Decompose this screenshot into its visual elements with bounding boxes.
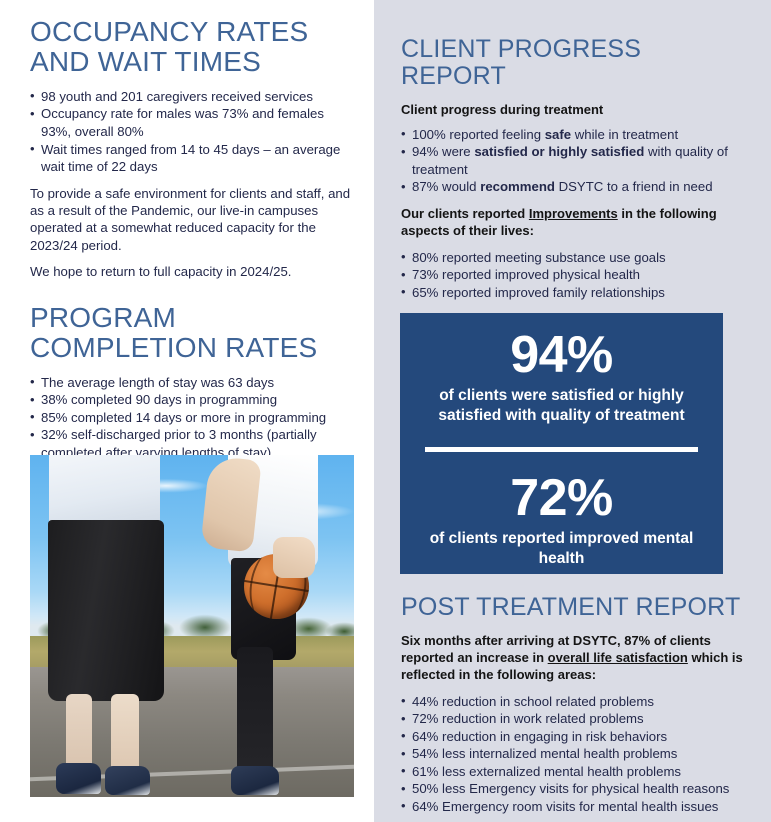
spacer — [401, 118, 751, 126]
statistic-number: 94% — [418, 329, 705, 381]
client-progress-report-title: CLIENT PROGRESS REPORT — [401, 0, 751, 90]
occupancy-paragraph-2: We hope to return to full capacity in 20… — [30, 263, 352, 280]
right-column: CLIENT PROGRESS REPORT Client progress d… — [374, 0, 771, 822]
photo-right-player-hand — [273, 537, 315, 578]
spacer — [401, 90, 751, 101]
bullet-text-pre: 94% were — [412, 144, 474, 159]
spacer — [401, 621, 751, 632]
list-item: Wait times ranged from 14 to 45 days – a… — [30, 141, 352, 176]
bullet-text-bold: recommend — [480, 179, 555, 194]
statistic-number: 72% — [418, 472, 705, 524]
left-column: OCCUPANCY RATES AND WAIT TIMES 98 youth … — [0, 0, 374, 822]
photo-left-player-shirt — [49, 455, 159, 530]
spacer — [401, 240, 751, 249]
spacer — [401, 196, 751, 205]
report-page: OCCUPANCY RATES AND WAIT TIMES 98 youth … — [0, 0, 771, 822]
client-progress-section: CLIENT PROGRESS REPORT Client progress d… — [374, 0, 771, 301]
list-item: 94% were satisfied or highly satisfied w… — [401, 143, 751, 178]
list-item: 61% less externalized mental health prob… — [401, 763, 751, 781]
occupancy-bullet-list: 98 youth and 201 caregivers received ser… — [30, 88, 352, 176]
photo-right-player-leg — [237, 647, 273, 777]
list-item: 50% less Emergency visits for physical h… — [401, 780, 751, 798]
bullet-text-bold: safe — [545, 127, 571, 142]
list-item: 98 youth and 201 caregivers received ser… — [30, 88, 352, 106]
list-item: 64% reduction in engaging in risk behavi… — [401, 728, 751, 746]
list-item: The average length of stay was 63 days — [30, 374, 352, 392]
occupancy-rates-title: OCCUPANCY RATES AND WAIT TIMES — [30, 0, 352, 77]
list-item: 54% less internalized mental health prob… — [401, 745, 751, 763]
occupancy-paragraph-1: To provide a safe environment for client… — [30, 185, 352, 255]
photo-right-player-shoe — [231, 766, 280, 795]
post-treatment-underlined-phrase: overall life satisfaction — [548, 650, 688, 665]
improvements-lead-text: Our clients reported Improvements in the… — [401, 205, 751, 240]
list-item: 64% Emergency room visits for mental hea… — [401, 798, 751, 816]
list-item: 85% completed 14 days or more in program… — [30, 409, 352, 427]
bullet-text-pre: 87% would — [412, 179, 480, 194]
bullet-text-post: while in treatment — [571, 127, 678, 142]
statistic-block-2: 72% of clients reported improved mental … — [418, 472, 705, 568]
statistic-caption: of clients were satisfied or highly sati… — [418, 386, 705, 425]
photo-left-player-shoe-right — [105, 766, 150, 795]
bullet-text-pre: 100% reported feeling — [412, 127, 545, 142]
statistics-divider — [425, 447, 698, 452]
list-item: 72% reduction in work related problems — [401, 710, 751, 728]
list-item: 65% reported improved family relationshi… — [401, 284, 751, 302]
list-item: 44% reduction in school related problems — [401, 693, 751, 711]
photo-left-player-shorts — [48, 520, 165, 701]
occupancy-section: OCCUPANCY RATES AND WAIT TIMES 98 youth … — [0, 0, 374, 281]
statistic-block-1: 94% of clients were satisfied or highly … — [418, 329, 705, 425]
list-item: Occupancy rate for males was 73% and fem… — [30, 105, 352, 140]
post-treatment-lead-text: Six months after arriving at DSYTC, 87% … — [401, 632, 751, 684]
list-item: 80% reported meeting substance use goals — [401, 249, 751, 267]
key-statistics-box: 94% of clients were satisfied or highly … — [400, 313, 723, 574]
bullet-text-bold: satisfied or highly satisfied — [474, 144, 644, 159]
spacer — [30, 254, 352, 263]
list-item: 100% reported feeling safe while in trea… — [401, 126, 751, 144]
program-completion-rates-title: PROGRAM COMPLETION RATES — [30, 303, 352, 363]
improvements-lead-pre: Our clients reported — [401, 206, 529, 221]
statistic-caption: of clients reported improved mental heal… — [418, 529, 705, 568]
post-treatment-bullet-list: 44% reduction in school related problems… — [401, 693, 751, 816]
spacer — [30, 77, 352, 88]
spacer — [401, 684, 751, 693]
spacer — [30, 363, 352, 374]
improvements-underlined-word: Improvements — [529, 206, 618, 221]
spacer — [30, 176, 352, 185]
post-treatment-report-title: POST TREATMENT REPORT — [401, 584, 751, 621]
list-item: 87% would recommend DSYTC to a friend in… — [401, 178, 751, 196]
bullet-text-post: DSYTC to a friend in need — [555, 179, 713, 194]
basketball-photo — [30, 455, 354, 797]
photo-left-player-shoe-left — [56, 763, 101, 794]
photo-left-player-leg-right — [111, 694, 139, 776]
list-item: 73% reported improved physical health — [401, 266, 751, 284]
list-item: 38% completed 90 days in programming — [30, 391, 352, 409]
client-progress-subheading: Client progress during treatment — [401, 101, 751, 118]
photo-canvas — [30, 455, 354, 797]
client-progress-bullet-list: 100% reported feeling safe while in trea… — [401, 126, 751, 196]
improvements-bullet-list: 80% reported meeting substance use goals… — [401, 249, 751, 302]
post-treatment-section: POST TREATMENT REPORT Six months after a… — [374, 584, 771, 815]
